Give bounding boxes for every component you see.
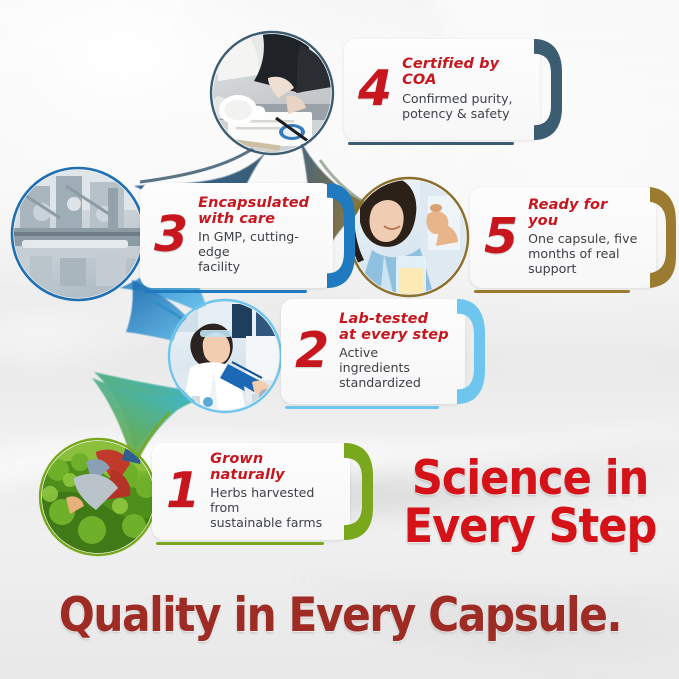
infographic-poster: 4 Certified by COA Confirmed purity, pot… (0, 0, 679, 679)
step-number-3: 3 (150, 212, 189, 257)
step-card-1[interactable]: 1 Grown naturally Herbs harvested from s… (152, 452, 350, 530)
step-rule-1 (156, 542, 324, 545)
step-subtitle-3: In GMP, cutting-edge facility (198, 229, 319, 274)
step-title-5: Ready for you (528, 197, 642, 229)
step-number-4: 4 (354, 66, 393, 111)
step-card-2[interactable]: 2 Lab-tested at every step Active ingred… (281, 308, 465, 394)
step-rule-2 (285, 406, 439, 409)
headline: Science in Every Step (399, 455, 660, 551)
step-card-3[interactable]: 3 Encapsulated with care In GMP, cutting… (140, 192, 333, 278)
step-bracket-1 (344, 443, 374, 540)
step-bracket-4 (534, 39, 564, 140)
step-rule-4 (348, 142, 514, 145)
step-photo-2 (169, 300, 282, 412)
step-number-2: 2 (291, 328, 330, 373)
step-photo-3 (12, 168, 144, 300)
step-title-4: Certified by COA (402, 56, 526, 88)
step-subtitle-2: Active ingredients standardized (339, 345, 451, 390)
step-number-5: 5 (480, 214, 519, 259)
step-card-4[interactable]: 4 Certified by COA Confirmed purity, pot… (344, 48, 540, 130)
step-photo-1 (40, 439, 156, 555)
step-bracket-3 (327, 183, 357, 288)
step-rule-3 (144, 290, 307, 293)
step-card-5[interactable]: 5 Ready for you One capsule, five months… (470, 196, 656, 278)
step-subtitle-5: One capsule, five months of real support (528, 231, 642, 276)
step-subtitle-4: Confirmed purity, potency & safety (402, 91, 526, 121)
step-subtitle-1: Herbs harvested from sustainable farms (210, 485, 336, 530)
step-rule-5 (474, 290, 630, 293)
step-title-3: Encapsulated with care (198, 195, 319, 227)
step-title-2: Lab-tested at every step (339, 311, 451, 343)
step-bracket-2 (457, 299, 487, 404)
step-photo-4 (207, 31, 336, 158)
step-bracket-5 (648, 187, 678, 288)
step-photo-5 (345, 177, 468, 298)
tagline: Quality in Every Capsule. (47, 588, 634, 643)
step-title-1: Grown naturally (210, 451, 336, 483)
step-number-1: 1 (162, 468, 201, 513)
